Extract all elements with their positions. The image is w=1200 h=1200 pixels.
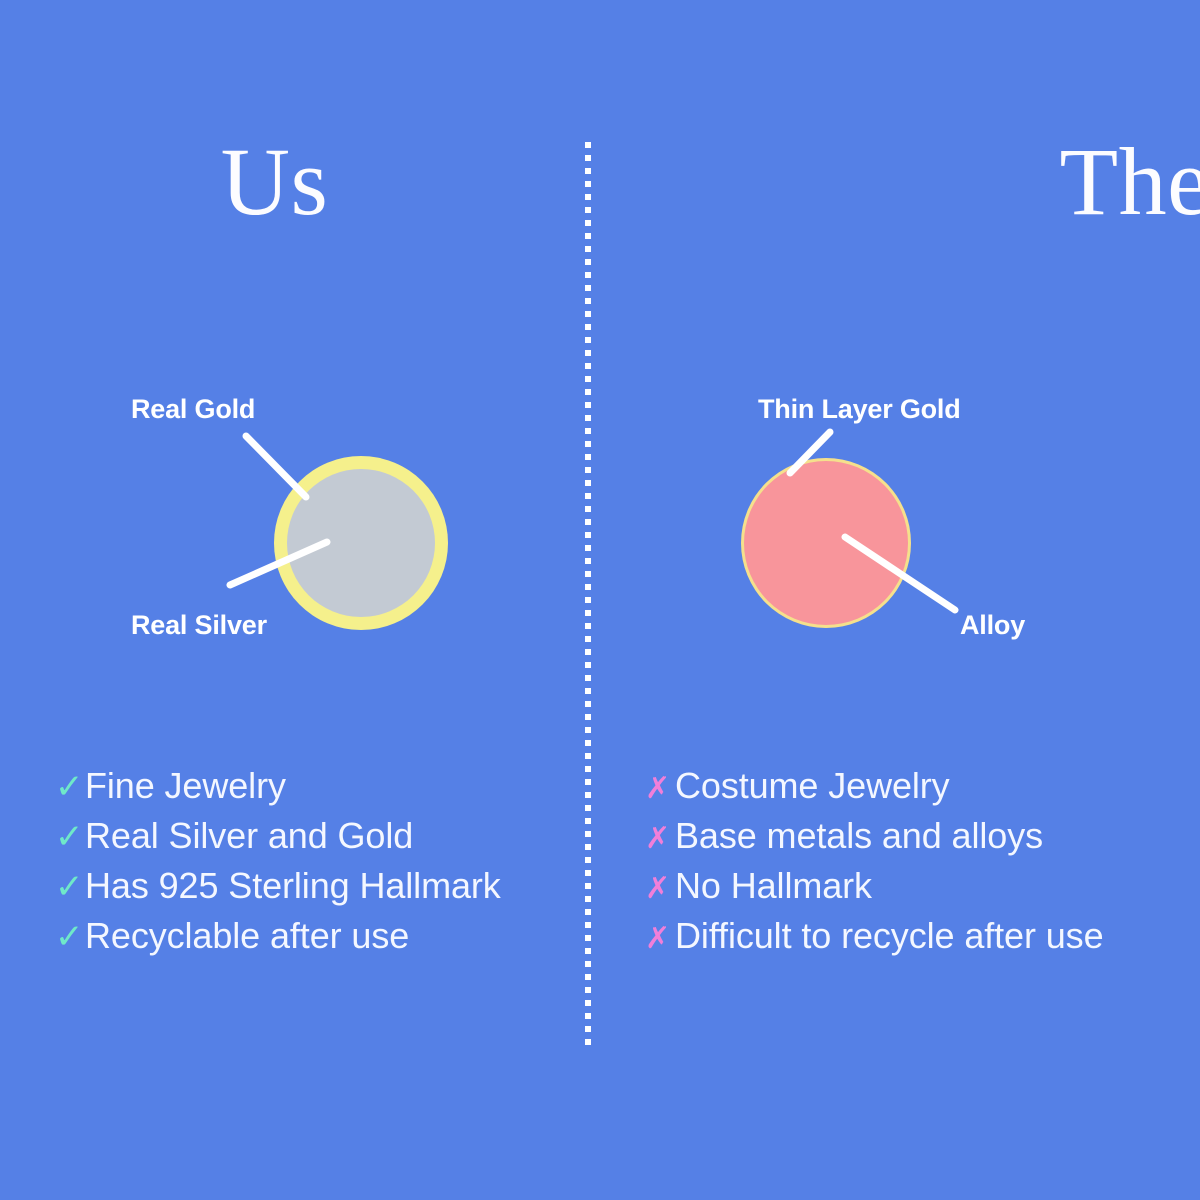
feature-list-us: ✓ Fine Jewelry ✓ Real Silver and Gold ✓ … (55, 768, 595, 968)
cross-icon: ✗ (645, 874, 675, 904)
feature-label: Difficult to recycle after use (675, 918, 1104, 954)
feature-row: ✓ Has 925 Sterling Hallmark (55, 868, 595, 918)
alloy-core (744, 461, 908, 625)
check-icon: ✓ (55, 820, 85, 854)
feature-label: Recyclable after use (85, 918, 409, 954)
diagram-label-real-silver: Real Silver (131, 610, 267, 641)
feature-label: Costume Jewelry (675, 768, 950, 804)
column-us: Us Real Gold Real Silver ✓ Fine Jewelry (0, 0, 585, 1200)
column-them: Them Thin Layer Gold Alloy ✗ Costume Jew… (600, 0, 1185, 1200)
check-icon: ✓ (55, 870, 85, 904)
feature-row: ✗ Base metals and alloys (645, 818, 1185, 868)
check-icon: ✓ (55, 920, 85, 954)
feature-row: ✓ Real Silver and Gold (55, 818, 595, 868)
feature-label: Base metals and alloys (675, 818, 1043, 854)
diagram-label-alloy: Alloy (960, 610, 1025, 641)
check-icon: ✓ (55, 770, 85, 804)
feature-list-them: ✗ Costume Jewelry ✗ Base metals and allo… (645, 768, 1185, 968)
feature-row: ✗ No Hallmark (645, 868, 1185, 918)
solid-gold-over-silver-svg (0, 370, 585, 670)
column-title-us: Us (0, 132, 567, 233)
cross-icon: ✗ (645, 924, 675, 954)
diagram-us: Real Gold Real Silver (0, 370, 585, 670)
diagram-label-real-gold: Real Gold (131, 394, 255, 425)
column-title-them: Them (880, 132, 1200, 233)
leader-line-real-gold (246, 436, 306, 497)
feature-label: Real Silver and Gold (85, 818, 413, 854)
feature-row: ✓ Fine Jewelry (55, 768, 595, 818)
cross-icon: ✗ (645, 774, 675, 804)
comparison-infographic: Us Real Gold Real Silver ✓ Fine Jewelry (0, 0, 1200, 1200)
inner-silver-core (287, 469, 435, 617)
diagram-label-thin-layer-gold: Thin Layer Gold (758, 394, 961, 425)
diagram-them: Thin Layer Gold Alloy (600, 370, 1185, 670)
feature-row: ✓ Recyclable after use (55, 918, 595, 968)
feature-row: ✗ Difficult to recycle after use (645, 918, 1185, 968)
feature-label: Has 925 Sterling Hallmark (85, 868, 501, 904)
feature-label: Fine Jewelry (85, 768, 286, 804)
cross-icon: ✗ (645, 824, 675, 854)
feature-row: ✗ Costume Jewelry (645, 768, 1185, 818)
feature-label: No Hallmark (675, 868, 872, 904)
